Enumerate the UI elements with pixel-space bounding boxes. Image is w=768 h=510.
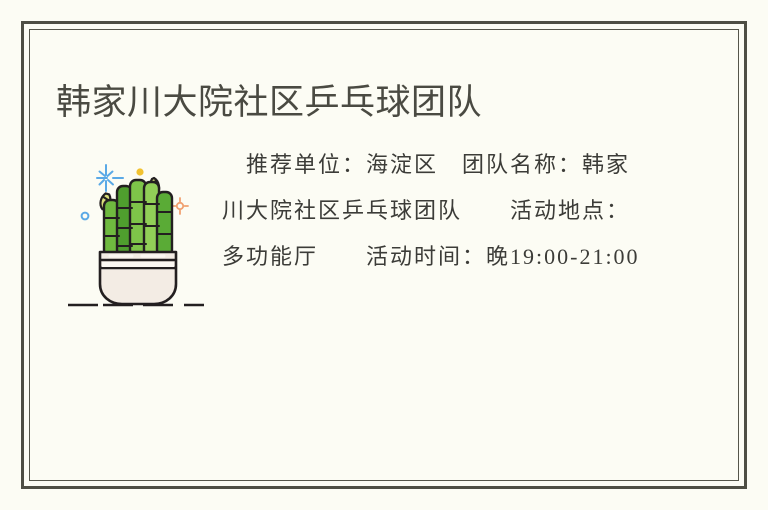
content-area: 韩家川大院社区乒乓球团队 xyxy=(30,30,738,480)
flower-pot xyxy=(100,252,176,304)
team-details-text: 推荐单位：海淀区 团队名称：韩家川大院社区乒乓球团队 活动地点：多功能厅 活动时… xyxy=(222,142,642,280)
sparkle-dot-yellow-icon xyxy=(136,168,143,175)
sparkle-dot-blue-icon xyxy=(82,213,89,220)
potted-bamboo-plant-icon xyxy=(58,156,218,316)
page-root: 韩家川大院社区乒乓球团队 xyxy=(0,0,768,510)
page-title: 韩家川大院社区乒乓球团队 xyxy=(56,81,482,125)
sparkle-orange-icon xyxy=(172,198,188,214)
